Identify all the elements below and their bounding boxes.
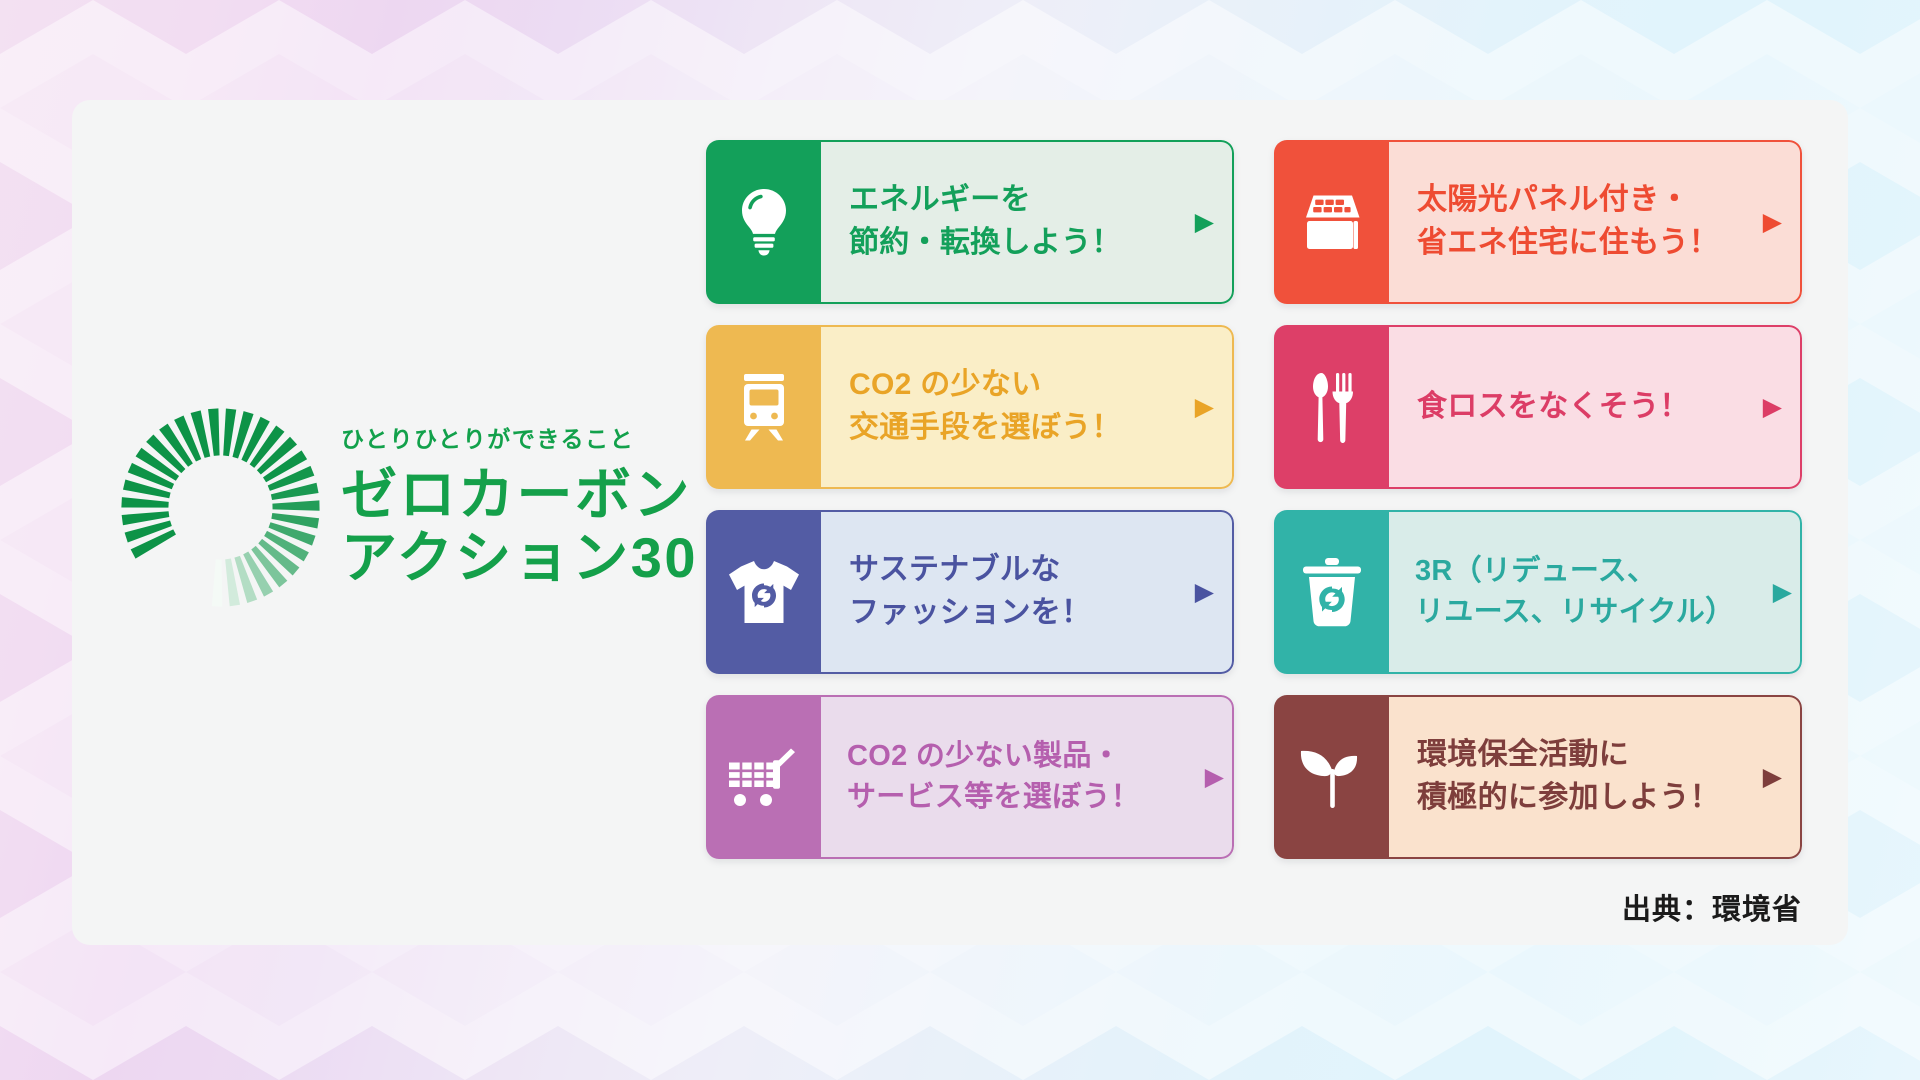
chevron-right-icon[interactable]: ▶ — [1763, 210, 1782, 235]
card-fashion-label: サステナブルな ファッションを！ — [849, 549, 1091, 634]
tshirt-recycle-icon — [727, 558, 801, 626]
train-icon — [736, 372, 792, 442]
card-three-r[interactable]: 3R（リデュース、 リユース、リサイクル） ▶ — [1274, 510, 1802, 674]
card-three-r-label: 3R（リデュース、 リユース、リサイクル） — [1415, 551, 1734, 633]
chevron-right-icon[interactable]: ▶ — [1763, 395, 1782, 420]
card-green-products-label: CO2 の少ない製品・ サービス等を選ぼう！ — [847, 736, 1140, 818]
card-solar-house[interactable]: 太陽光パネル付き・ 省エネ住宅に住もう！ ▶ — [1274, 140, 1802, 304]
card-solar-house-body: 太陽光パネル付き・ 省エネ住宅に住もう！ ▶ — [1389, 140, 1802, 304]
card-conservation-icon-area — [1274, 695, 1389, 859]
card-food-loss[interactable]: 食ロスをなくそう！ ▶ — [1274, 325, 1802, 489]
card-food-loss-body: 食ロスをなくそう！ ▶ — [1389, 325, 1802, 489]
logo-title-line2: アクション30 — [341, 527, 698, 590]
card-green-products[interactable]: CO2 の少ない製品・ サービス等を選ぼう！ ▶ — [706, 695, 1234, 859]
lightbulb-icon — [735, 187, 793, 257]
card-energy[interactable]: エネルギーを 節約・転換しよう！ ▶ — [706, 140, 1234, 304]
card-green-products-icon-area — [706, 695, 821, 859]
card-conservation-body: 環境保全活動に 積極的に参加しよう！ ▶ — [1389, 695, 1802, 859]
logo-wordmark: ひとりひとりができること ゼロカーボン アクション30 — [341, 426, 698, 589]
card-green-products-body: CO2 の少ない製品・ サービス等を選ぼう！ ▶ — [821, 695, 1234, 859]
card-food-loss-icon-area — [1274, 325, 1389, 489]
card-energy-label: エネルギーを 節約・転換しよう！ — [849, 179, 1122, 264]
zero-carbon-radial-c-mark — [118, 405, 323, 610]
card-energy-body: エネルギーを 節約・転換しよう！ ▶ — [821, 140, 1234, 304]
zero-carbon-logo: ひとりひとりができること ゼロカーボン アクション30 — [118, 395, 658, 620]
solar-house-icon — [1299, 191, 1365, 253]
sprout-icon — [1296, 744, 1368, 810]
card-transport-label: CO2 の少ない 交通手段を選ぼう！ — [849, 364, 1122, 449]
logo-tagline: ひとりひとりができること — [341, 428, 698, 451]
source-credit: 出典：環境省 — [1622, 886, 1802, 928]
card-transport-icon-area — [706, 325, 821, 489]
card-fashion-icon-area — [706, 510, 821, 674]
action-card-grid: エネルギーを 節約・転換しよう！ ▶ 太陽光 — [706, 140, 1818, 859]
card-three-r-icon-area — [1274, 510, 1389, 674]
card-food-loss-label: 食ロスをなくそう！ — [1417, 386, 1690, 429]
card-three-r-body: 3R（リデュース、 リユース、リサイクル） ▶ — [1389, 510, 1802, 674]
chevron-right-icon[interactable]: ▶ — [1763, 765, 1782, 790]
card-fashion-body: サステナブルな ファッションを！ ▶ — [821, 510, 1234, 674]
spoon-fork-icon — [1308, 371, 1356, 443]
chevron-right-icon[interactable]: ▶ — [1195, 210, 1214, 235]
chevron-right-icon[interactable]: ▶ — [1205, 765, 1224, 790]
shopping-cart-icon — [727, 746, 801, 808]
chevron-right-icon[interactable]: ▶ — [1195, 580, 1214, 605]
card-energy-icon-area — [706, 140, 821, 304]
card-fashion[interactable]: サステナブルな ファッションを！ ▶ — [706, 510, 1234, 674]
card-conservation-label: 環境保全活動に 積極的に参加しよう！ — [1417, 734, 1720, 819]
chevron-right-icon[interactable]: ▶ — [1773, 580, 1792, 605]
card-transport-body: CO2 の少ない 交通手段を選ぼう！ ▶ — [821, 325, 1234, 489]
card-solar-house-label: 太陽光パネル付き・ 省エネ住宅に住もう！ — [1417, 179, 1719, 264]
logo-title-line1: ゼロカーボン — [341, 464, 698, 527]
chevron-right-icon[interactable]: ▶ — [1195, 395, 1214, 420]
card-solar-house-icon-area — [1274, 140, 1389, 304]
card-transport[interactable]: CO2 の少ない 交通手段を選ぼう！ ▶ — [706, 325, 1234, 489]
recycle-bin-icon — [1301, 556, 1363, 628]
card-conservation[interactable]: 環境保全活動に 積極的に参加しよう！ ▶ — [1274, 695, 1802, 859]
